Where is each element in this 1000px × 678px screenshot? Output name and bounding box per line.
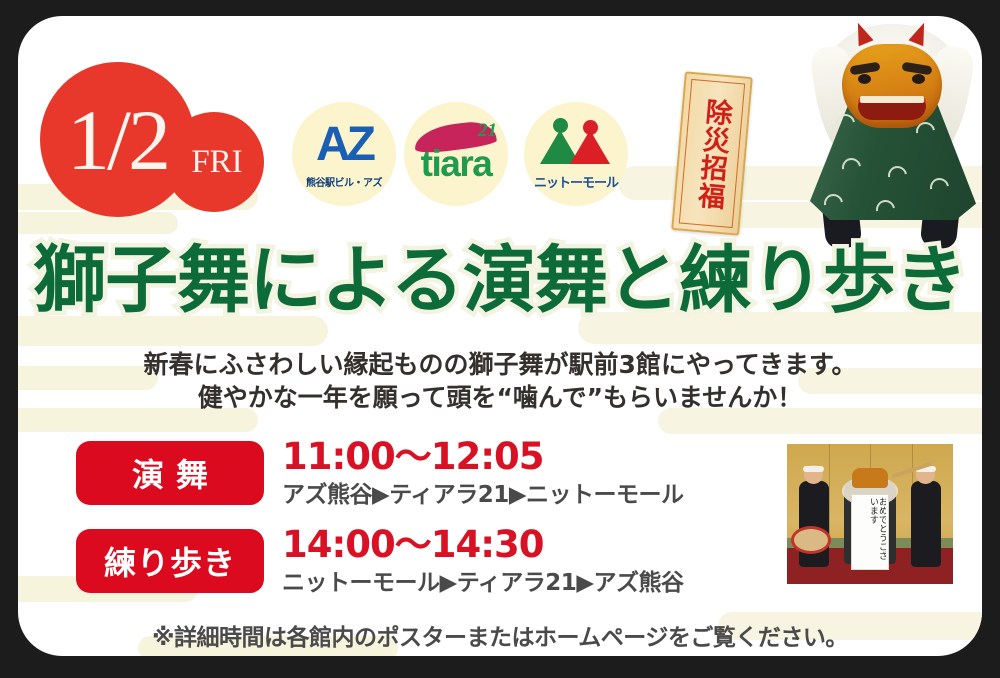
banner-text: おめでとうございます: [854, 497, 886, 567]
photo-lion-head: [852, 468, 888, 488]
lion-dancer-photo: [780, 18, 982, 250]
schedule-label-badge-enbu: 演舞: [76, 441, 264, 505]
nitto-subtitle: ニットーモール: [524, 172, 628, 191]
poster-card: 1/2 FRI AZ 熊谷駅ビル・アズ tiara 21: [18, 16, 982, 656]
schedule-route-enbu: アズ熊谷▶ティアラ21▶ニットーモール: [282, 481, 684, 509]
footer-note: ※詳細時間は各館内のポスターまたはホームページをご覧ください。: [18, 618, 982, 652]
subtitle-line-2: 健やかな一年を願って頭を“噛んで”もらいませんか！: [18, 381, 982, 414]
schedule-time-neriaruki: 14:00〜14:30: [282, 523, 544, 567]
schedule-time-enbu: 11:00〜12:05: [282, 435, 544, 479]
ofuda-text: 除災招福: [693, 96, 731, 210]
ofuda-border: 除災招福: [679, 79, 745, 228]
subtitle-block: 新春にふさわしい縁起ものの獅子舞が駅前3館にやってきます。 健やかな一年を願って…: [18, 348, 982, 414]
date-badge: 1/2 FRI: [40, 62, 270, 227]
tiara-wordmark: tiara: [406, 144, 506, 184]
photo-scene: おめでとうございます: [787, 444, 953, 584]
schedule-list: 演舞 11:00〜12:05 アズ熊谷▶ティアラ21▶ニットーモール 練り歩き …: [76, 437, 776, 613]
event-day-of-week: FRI: [164, 112, 264, 212]
logo-az: AZ 熊谷駅ビル・アズ: [290, 102, 402, 206]
head-dot-green: [553, 118, 568, 133]
az-subtitle: 熊谷駅ビル・アズ: [292, 174, 396, 189]
schedule-route-neriaruki: ニットーモール▶ティアラ21▶アズ熊谷: [282, 569, 684, 597]
logo-row: AZ 熊谷駅ビル・アズ tiara 21 ニットーモール: [290, 102, 650, 212]
ofuda-talisman: 除災招福: [671, 71, 753, 235]
az-wordmark: AZ: [302, 118, 386, 172]
lion-eye-left: [858, 74, 871, 84]
performers-photo: おめでとうございます: [781, 438, 959, 590]
taiko-drum: [791, 526, 831, 554]
logo-nitto-mall: ニットーモール: [522, 102, 634, 206]
schedule-label-badge-neriaruki: 練り歩き: [76, 529, 264, 593]
head-dot-red: [583, 120, 598, 135]
page-title: 獅子舞による演舞と練り歩き: [18, 244, 982, 317]
tiara-superscript: 21: [478, 120, 497, 142]
schedule-row: 演舞 11:00〜12:05 アズ熊谷▶ティアラ21▶ニットーモール: [76, 437, 776, 525]
flute-performer: [911, 481, 941, 567]
subtitle-line-1: 新春にふさわしい縁起ものの獅子舞が駅前3館にやってきます。: [18, 348, 982, 381]
lion-teeth: [860, 96, 924, 103]
mountain-shape-red: [570, 130, 610, 164]
performer-headband: [803, 466, 824, 472]
lion-mask-head: [842, 44, 942, 128]
congratulations-banner: おめでとうございます: [851, 494, 889, 570]
lion-eye-right: [912, 74, 925, 84]
poster-root: 1/2 FRI AZ 熊谷駅ビル・アズ tiara 21: [0, 0, 1000, 678]
nitto-mountain-icon: [540, 118, 612, 164]
schedule-row: 練り歩き 14:00〜14:30 ニットーモール▶ティアラ21▶アズ熊谷: [76, 525, 776, 613]
logo-tiara21: tiara 21: [402, 102, 514, 206]
drummer-performer: [799, 481, 829, 567]
